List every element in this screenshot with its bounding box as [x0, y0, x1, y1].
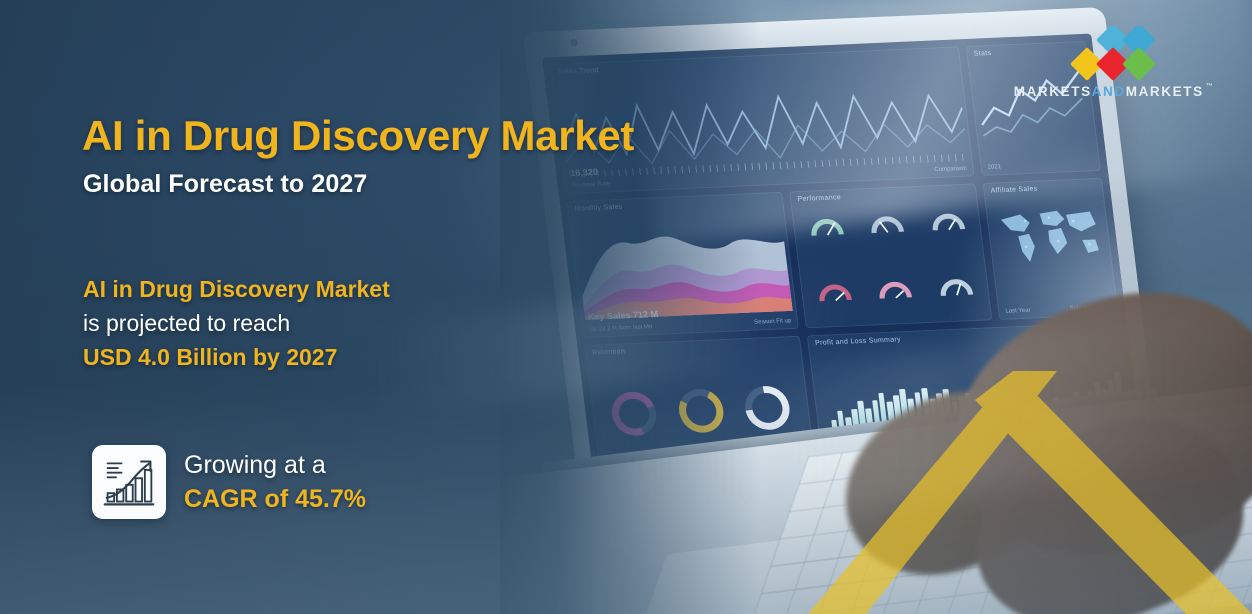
- cagr-line-2: CAGR of 45.7%: [184, 482, 366, 516]
- panel-line-chart-note2: Comparison: [934, 166, 967, 173]
- stat-line-3: USD 4.0 Billion by 2027: [83, 340, 390, 374]
- growth-bar-chart-glyph: [101, 455, 157, 509]
- stat-line-2: is projected to reach: [83, 306, 390, 340]
- panel-profit-loss-title: Profit and Loss Summary: [815, 336, 902, 347]
- panel-gauges: Performance: [790, 184, 993, 328]
- panel-top-right-title: Stats: [973, 50, 991, 58]
- area-chart-svg: [573, 208, 793, 320]
- market-stat-block: AI in Drug Discovery Market is projected…: [83, 272, 390, 374]
- logo-trademark: ™: [1206, 83, 1215, 90]
- panel-monthly-sales-value: Key Sales 712 M: [587, 309, 658, 322]
- cagr-text: Growing at a CAGR of 45.7%: [184, 448, 366, 516]
- stat-line-1: AI in Drug Discovery Market: [83, 272, 390, 306]
- panel-donut-rings-title: Retention: [592, 348, 626, 356]
- gauge-icon: [868, 209, 905, 236]
- cagr-line-1: Growing at a: [184, 448, 366, 482]
- panel-world-map-title: Affiliate Sales: [990, 186, 1038, 195]
- cagr-block: Growing at a CAGR of 45.7%: [92, 445, 366, 519]
- panel-monthly-sales: Monthly Sales Key Sales 712 M Up 23.2 % …: [567, 192, 800, 338]
- donut-ring-purple: [606, 385, 662, 442]
- panel-monthly-sales-note: Up 23.2 % from last Mo: [589, 324, 653, 333]
- marketsandmarkets-logo[interactable]: MARKETS AND MARKETS ™: [1018, 26, 1210, 99]
- world-map-icon: [990, 196, 1108, 276]
- page-subtitle: Global Forecast to 2027: [83, 170, 367, 199]
- logo-diamonds: [1018, 26, 1210, 82]
- donut-ring-white: [737, 378, 798, 439]
- logo-word-markets-1: MARKETS: [1014, 84, 1092, 99]
- marketing-banner: Sales Trend 16,320 Revenue Rate Comparis…: [0, 0, 1252, 614]
- panel-world-map: Affiliate Sales: [983, 178, 1119, 319]
- panel-monthly-sales-title: Monthly Sales: [574, 204, 623, 213]
- growth-bar-chart-icon: [92, 445, 166, 519]
- page-title: AI in Drug Discovery Market: [82, 112, 634, 160]
- panel-line-chart-value: 16,320: [570, 167, 599, 178]
- logo-wordmark: MARKETS AND MARKETS ™: [1018, 84, 1210, 99]
- logo-diamond-glyph: [1018, 26, 1210, 82]
- panel-line-chart-title: Sales Trend: [557, 67, 599, 76]
- panel-top-right-note: 2021: [988, 165, 1002, 172]
- logo-word-and: AND: [1092, 84, 1126, 99]
- panel-line-chart-note: Revenue Rate: [572, 182, 611, 190]
- donut-ring-gold: [672, 384, 730, 439]
- panel-monthly-sales-note2: Season Fit up: [754, 318, 792, 326]
- panel-world-map-note: Last Year: [1005, 307, 1031, 314]
- gauge-icon: [937, 272, 974, 299]
- gauge-icon: [876, 275, 913, 302]
- gauge-icon: [929, 207, 966, 234]
- logo-word-markets-2: MARKETS: [1126, 84, 1204, 99]
- gauge-icon: [808, 212, 845, 239]
- gauge-icon: [816, 278, 853, 305]
- gauge-grid: [794, 188, 988, 324]
